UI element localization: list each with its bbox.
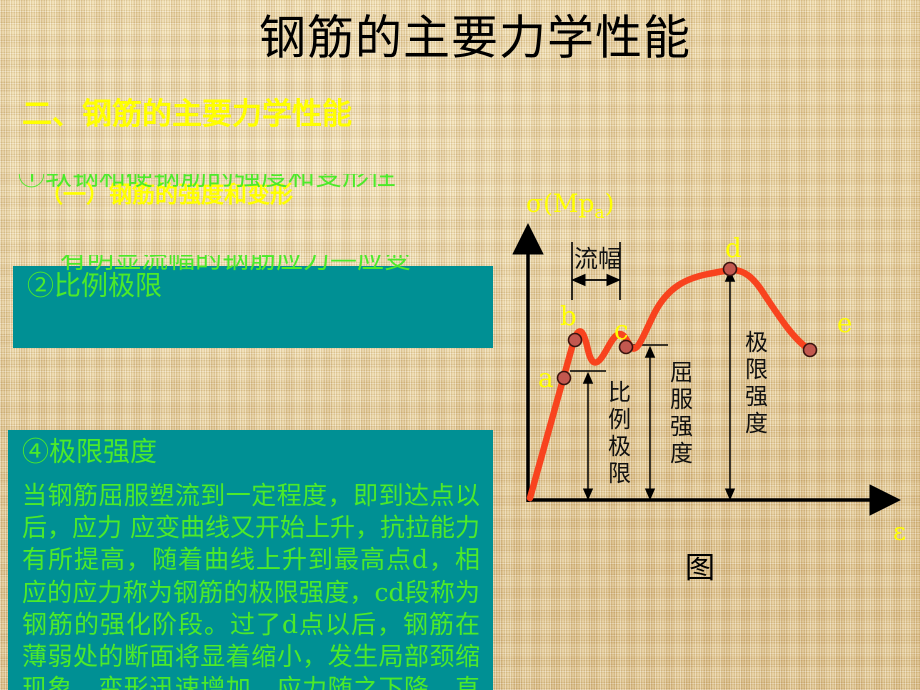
y-axis-label: σ(Mpa) [526, 189, 614, 223]
measure-label-yield: 屈服强度 [670, 360, 693, 467]
clipped-text-middle-value: 有明显流幅的钢筋应力—应变 [60, 255, 493, 273]
point-label-e: e [837, 309, 852, 339]
teal-box-upper: ②比例极限 [13, 266, 493, 348]
teal-lower-body: 当钢筋屈服塑流到一定程度，即到达点以后，应力 应变曲线又开始上升，抗拉能力有所提… [22, 480, 480, 690]
data-point-a [558, 372, 571, 385]
point-label-c: c [614, 316, 629, 346]
y-axis-label-sub: a [594, 203, 604, 223]
teal-lower-title: ④极限强度 [22, 436, 493, 470]
teal-upper-title: ②比例极限 [27, 270, 493, 304]
data-point-d [724, 263, 737, 276]
span-label-liufu: 流幅 [574, 245, 622, 273]
clipped-text-middle: 有明显流幅的钢筋应力—应变 [60, 255, 493, 273]
y-axis-label-close: ) [605, 189, 615, 218]
measure-label-ultimate: 极限强度 [745, 330, 768, 437]
y-axis-label-main: σ(Mp [526, 189, 594, 218]
page-title: 钢筋的主要力学性能 [0, 12, 920, 66]
teal-box-lower: ④极限强度 当钢筋屈服塑流到一定程度，即到达点以后，应力 应变曲线又开始上升，抗… [8, 430, 493, 690]
data-point-b [569, 334, 582, 347]
clipped-text-top-value: ①软钢和硬钢筋的强度和变形性 [18, 174, 493, 190]
heading-level-1: 二、钢筋的主要力学性能 [22, 89, 920, 133]
point-label-b: b [560, 302, 577, 332]
point-label-a: a [538, 364, 554, 394]
slide-canvas: 钢筋的主要力学性能 二、钢筋的主要力学性能 （一）钢筋的强度和变形 ①软钢和硬钢… [0, 0, 920, 690]
clipped-text-top: ①软钢和硬钢筋的强度和变形性 [18, 174, 493, 190]
measure-label-proportional: 比例极限 [608, 380, 631, 487]
point-label-d: d [725, 234, 742, 264]
x-axis-label: ε [893, 517, 906, 546]
figure-caption: 图 [640, 543, 760, 587]
stress-strain-chart: σ(Mpa) ε a b c d e 流幅 比例极限 屈服强度 极限强度 [492, 182, 920, 582]
data-point-e [804, 344, 817, 357]
